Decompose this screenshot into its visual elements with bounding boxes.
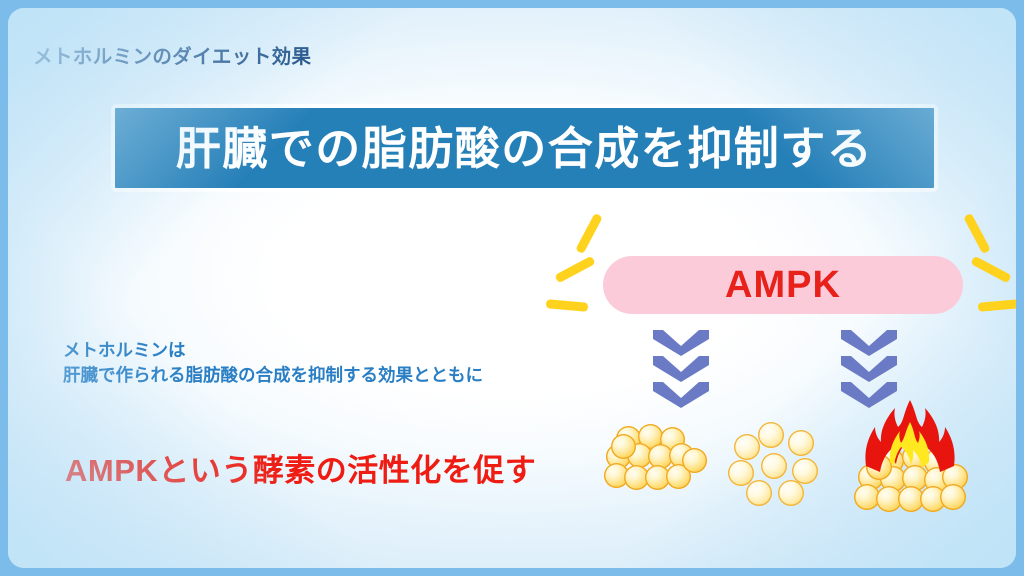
fat-globule — [746, 480, 772, 506]
slide-root: メトホルミンのダイエット効果 肝臓での脂肪酸の合成を抑制する AMPK — [0, 0, 1024, 576]
fat-globule — [734, 434, 760, 460]
body-copy-line-1: メトホルミンは — [63, 338, 483, 363]
chevron-down-icon — [841, 330, 897, 356]
content-layer: メトホルミンのダイエット効果 肝臓での脂肪酸の合成を抑制する AMPK — [8, 8, 1016, 568]
fat-globule — [682, 448, 707, 473]
burning-fat-cell-icon — [854, 400, 969, 518]
fat-globule — [788, 430, 814, 456]
triple-chevron-down-icon-left — [653, 330, 709, 410]
fat-globule — [611, 434, 636, 459]
fat-globule — [940, 484, 966, 510]
chevron-down-icon — [653, 330, 709, 356]
fat-cell-scattered-icon — [730, 422, 830, 504]
ray — [554, 256, 595, 284]
ray — [970, 256, 1011, 284]
body-copy: メトホルミンは 肝臓で作られる脂肪酸の合成を抑制する効果とともに — [63, 338, 483, 389]
page-title: 肝臓での脂肪酸の合成を抑制する — [176, 126, 874, 171]
ray — [546, 299, 589, 312]
chevron-down-icon — [653, 356, 709, 382]
fat-globule — [778, 480, 804, 506]
body-copy-line-2: 肝臓で作られる脂肪酸の合成を抑制する効果とともに — [63, 363, 483, 388]
slide-card: メトホルミンのダイエット効果 肝臓での脂肪酸の合成を抑制する AMPK — [8, 8, 1016, 568]
ray — [963, 213, 991, 254]
ampk-badge: AMPK — [603, 256, 963, 314]
ray — [978, 299, 1016, 312]
triple-chevron-down-icon-right — [841, 330, 897, 410]
highlight-statement: AMPKという酵素の活性化を促す — [65, 445, 536, 490]
eyebrow-heading: メトホルミンのダイエット効果 — [33, 40, 311, 69]
chevron-down-icon — [653, 382, 709, 408]
ampk-badge-label: AMPK — [725, 266, 841, 304]
ray — [575, 213, 603, 254]
fat-globule — [761, 453, 787, 479]
chevron-down-icon — [841, 382, 897, 408]
fat-globule — [758, 422, 784, 448]
fat-cell-cluster-icon — [606, 426, 706, 498]
flame-icon — [860, 400, 960, 480]
chevron-down-icon — [841, 356, 897, 382]
title-band: 肝臓での脂肪酸の合成を抑制する — [111, 104, 938, 192]
